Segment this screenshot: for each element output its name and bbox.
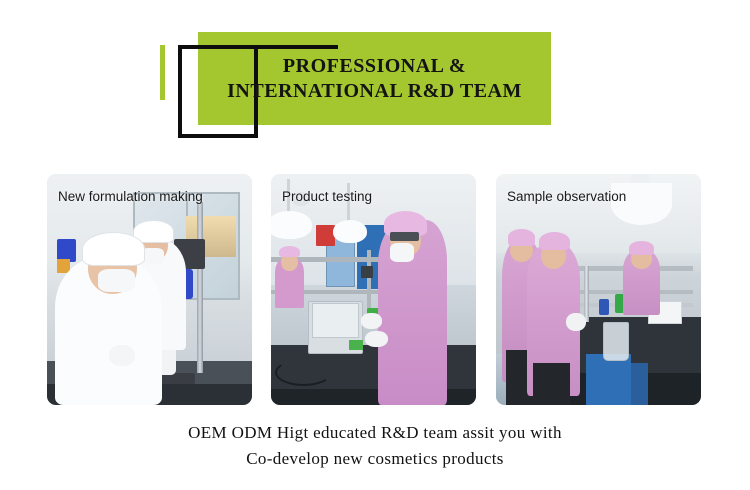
card-label-sample-observation: Sample observation xyxy=(507,188,693,206)
lab-photo-sample-observation xyxy=(496,174,701,405)
title-line-1: PROFESSIONAL & xyxy=(283,54,466,78)
card-product-testing[interactable]: Product testing xyxy=(271,174,476,405)
page-title: PROFESSIONAL & INTERNATIONAL R&D TEAM xyxy=(198,32,551,125)
card-sample-observation[interactable]: Sample observation xyxy=(496,174,701,405)
image-card-row: New formulation making xyxy=(0,174,750,406)
lab-photo-new-formulation xyxy=(47,174,252,405)
lab-photo-product-testing xyxy=(271,174,476,405)
green-accent-bar xyxy=(160,45,165,100)
card-label-new-formulation: New formulation making xyxy=(58,188,244,206)
caption-line-2: Co-develop new cosmetics products xyxy=(0,446,750,472)
card-new-formulation[interactable]: New formulation making xyxy=(47,174,252,405)
card-label-product-testing: Product testing xyxy=(282,188,468,206)
header-section: PROFESSIONAL & INTERNATIONAL R&D TEAM xyxy=(0,0,750,160)
caption-block: OEM ODM Higt educated R&D team assit you… xyxy=(0,420,750,473)
banner-page: PROFESSIONAL & INTERNATIONAL R&D TEAM xyxy=(0,0,750,490)
title-line-2: INTERNATIONAL R&D TEAM xyxy=(227,79,522,103)
caption-line-1: OEM ODM Higt educated R&D team assit you… xyxy=(0,420,750,446)
